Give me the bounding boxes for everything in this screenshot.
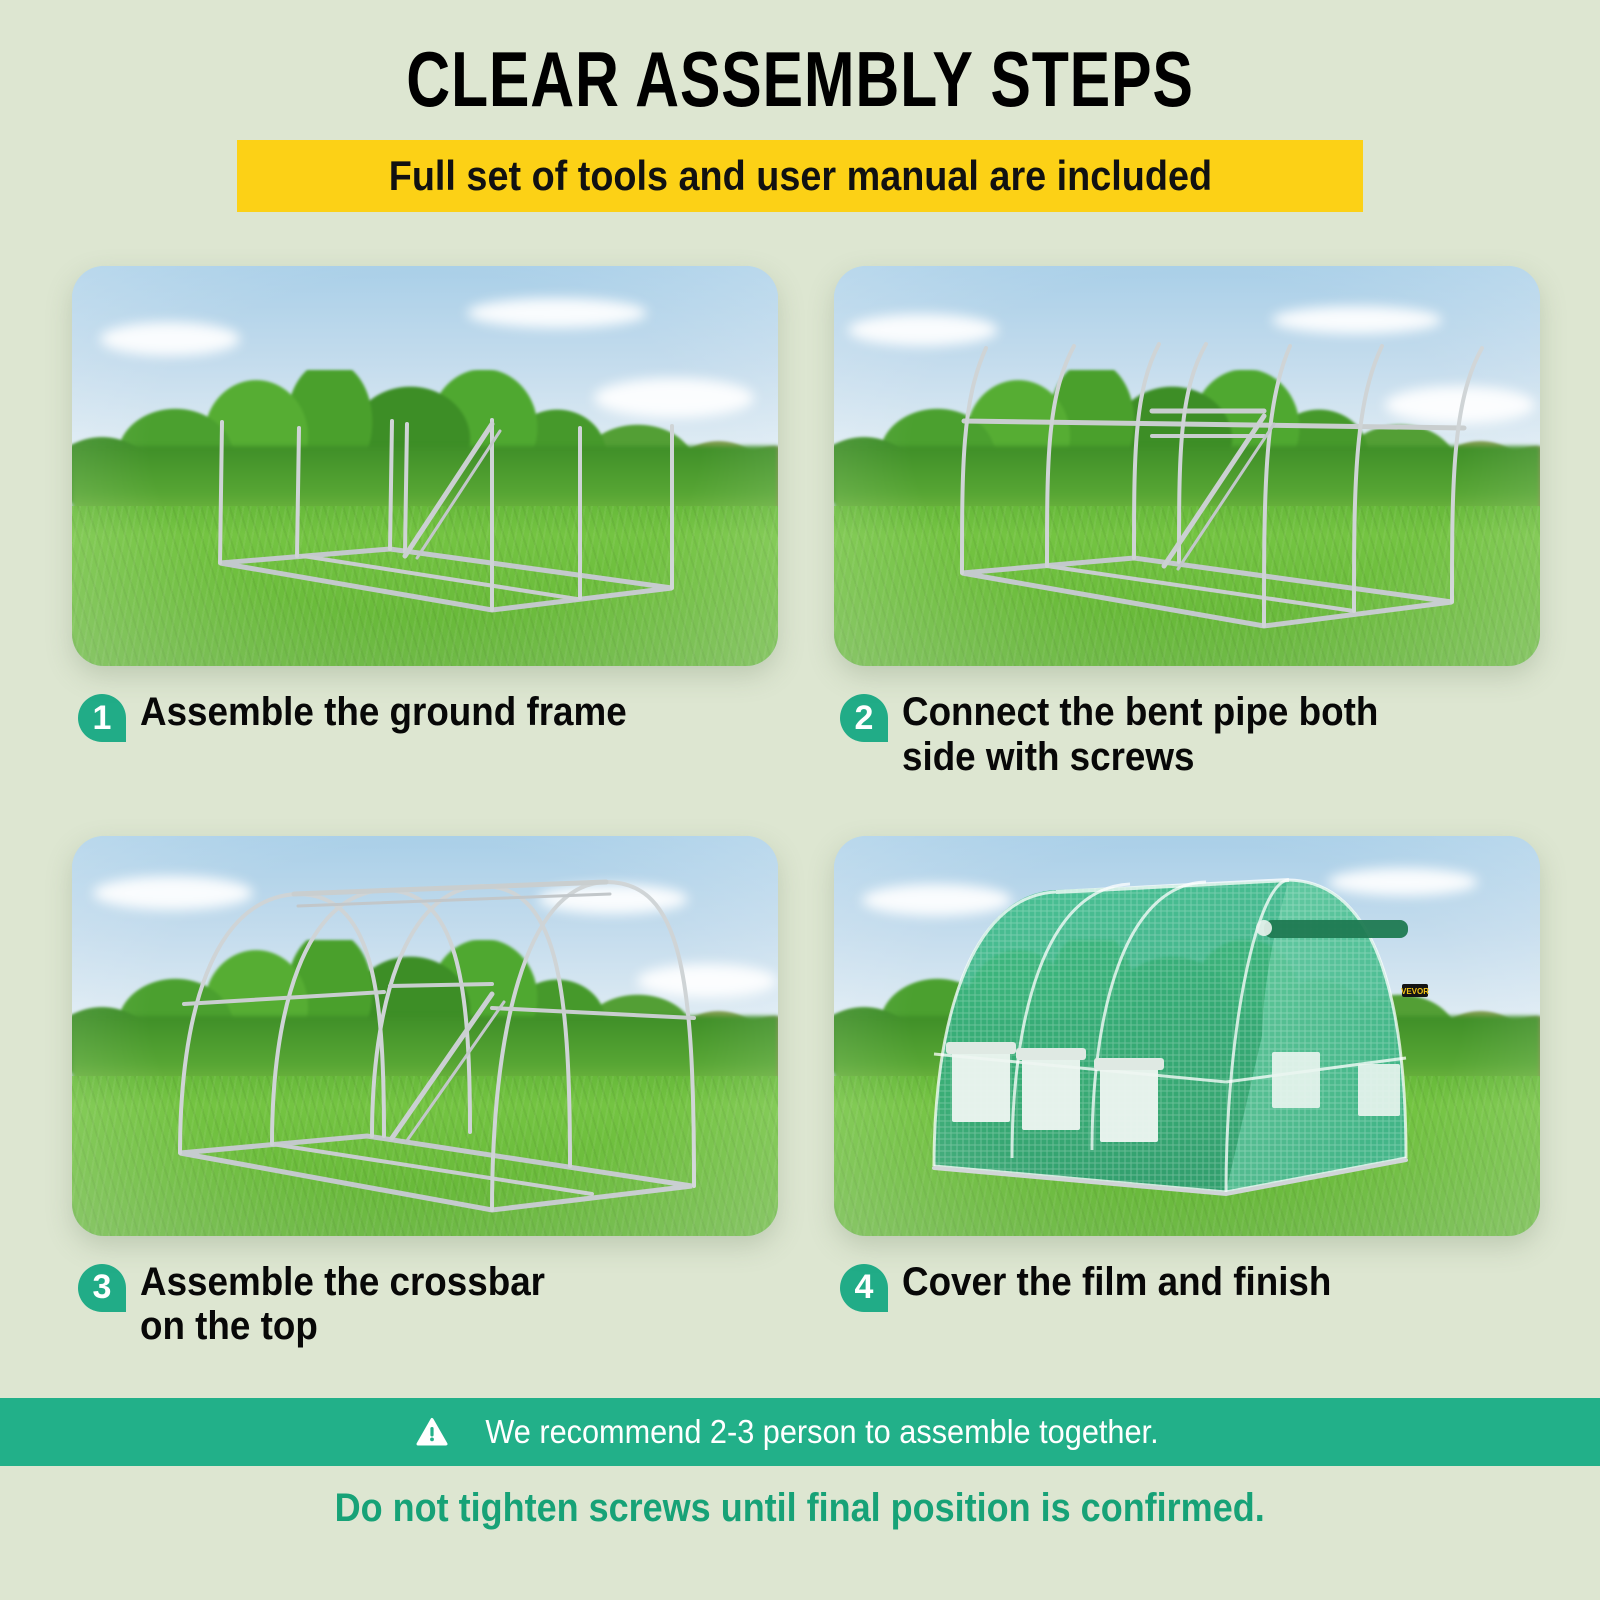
- step-2-caption: 2 Connect the bent pipe both side with s…: [800, 690, 1600, 780]
- step-number-badge-2: 2: [840, 694, 888, 742]
- step-number-badge-1: 1: [78, 694, 126, 742]
- step-3-caption-text: Assemble the crossbar on the top: [140, 1260, 545, 1350]
- footer-warning-text: We recommend 2-3 person to assemble toge…: [485, 1413, 1158, 1451]
- steps-row-2: 3 Assemble the crossbar on the top: [0, 836, 1600, 1350]
- footer-note-text: Do not tighten screws until final positi…: [335, 1486, 1265, 1531]
- step-card-4: VEVOR 4 Cover the film and finish: [800, 836, 1600, 1350]
- svg-text:VEVOR: VEVOR: [1401, 987, 1429, 996]
- steps-row-1: 1 Assemble the ground frame: [0, 266, 1600, 780]
- ground-frame-illustration: [72, 266, 778, 666]
- step-3-caption: 3 Assemble the crossbar on the top: [0, 1260, 800, 1350]
- step-1-caption-text: Assemble the ground frame: [140, 690, 627, 735]
- step-1-photo: [72, 266, 778, 666]
- step-3-photo: [72, 836, 778, 1236]
- step-2-photo: [834, 266, 1540, 666]
- step-card-2: 2 Connect the bent pipe both side with s…: [800, 266, 1600, 780]
- warning-triangle-icon: [416, 1417, 448, 1447]
- finished-greenhouse-illustration: VEVOR: [834, 836, 1540, 1236]
- footer-warning-band: We recommend 2-3 person to assemble toge…: [0, 1398, 1600, 1466]
- step-2-caption-text: Connect the bent pipe both side with scr…: [902, 690, 1378, 780]
- step-4-caption: 4 Cover the film and finish: [800, 1260, 1600, 1312]
- step-card-3: 3 Assemble the crossbar on the top: [0, 836, 800, 1350]
- subtitle-banner: Full set of tools and user manual are in…: [237, 140, 1363, 212]
- step-4-caption-text: Cover the film and finish: [902, 1260, 1331, 1305]
- footer-note: Do not tighten screws until final positi…: [0, 1486, 1600, 1531]
- step-card-1: 1 Assemble the ground frame: [0, 266, 800, 780]
- crossbar-frame-illustration: [72, 836, 778, 1236]
- assembly-steps-grid: 1 Assemble the ground frame: [0, 266, 1600, 1349]
- step-1-caption: 1 Assemble the ground frame: [0, 690, 800, 742]
- step-number-badge-4: 4: [840, 1264, 888, 1312]
- page-header: CLEAR ASSEMBLY STEPS Full set of tools a…: [0, 0, 1600, 212]
- bent-pipe-frame-illustration: [834, 266, 1540, 666]
- step-4-photo: VEVOR: [834, 836, 1540, 1236]
- step-number-badge-3: 3: [78, 1264, 126, 1312]
- page-title: CLEAR ASSEMBLY STEPS: [176, 40, 1424, 118]
- subtitle-text: Full set of tools and user manual are in…: [388, 152, 1211, 200]
